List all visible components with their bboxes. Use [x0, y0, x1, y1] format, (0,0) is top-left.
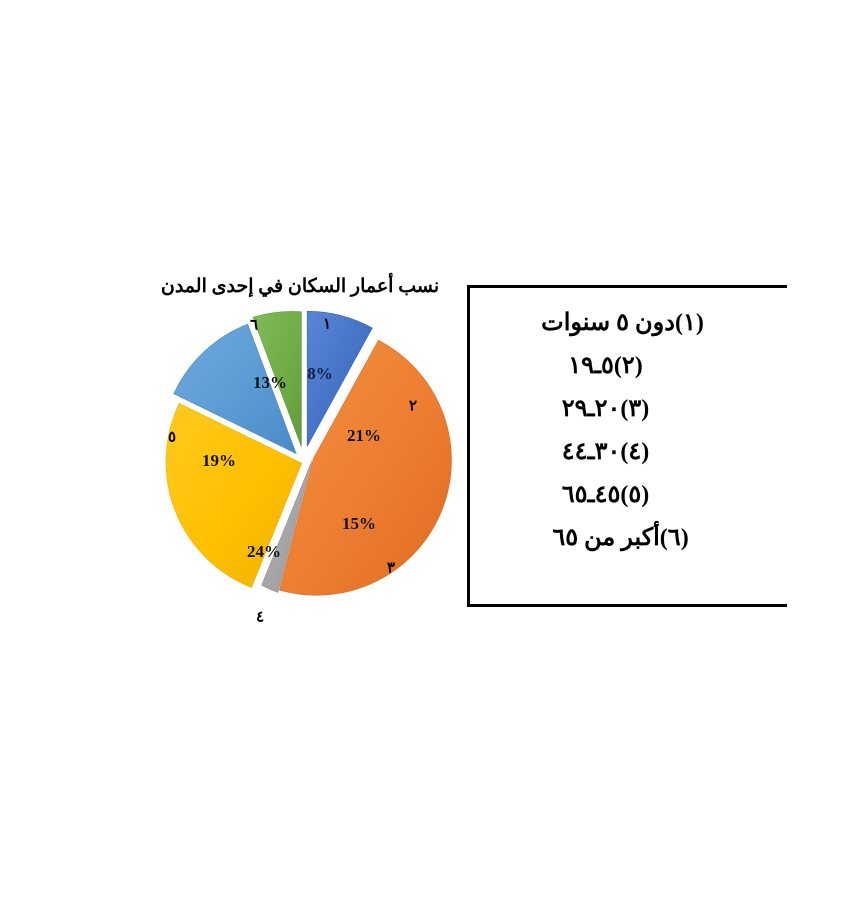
legend-item-3: (٣)٢٠ـ٢٩ — [480, 388, 765, 431]
legend-item-6: (٦)أكبر من ٦٥ — [480, 517, 765, 560]
pie-chart-figure: نسب أعمار السكان في إحدى المدن — [0, 0, 850, 900]
pie-slices-svg — [150, 300, 460, 630]
legend-item-4: (٤)٣٠ـ٤٤ — [480, 431, 765, 474]
slice-category-label-4: ٤ — [256, 608, 264, 627]
slice-category-label-6: ٦ — [250, 316, 258, 335]
legend-item-1: (١)دون ٥ سنوات — [480, 302, 765, 345]
slice-category-label-2: ٢ — [409, 397, 417, 416]
chart-title: نسب أعمار السكان في إحدى المدن — [140, 275, 460, 299]
legend-item-5: (٥)٤٥ـ٦٥ — [480, 474, 765, 517]
pie-chart: 8% 21% 15% 24% 19% 13% ١ ٢ ٣ ٤ ٥ ٦ — [150, 300, 460, 630]
slice-category-label-3: ٣ — [387, 559, 395, 578]
slice-category-label-1: ١ — [323, 315, 331, 334]
legend-item-2: (٢)٥ـ١٩ — [480, 345, 765, 388]
slice-category-label-5: ٥ — [168, 428, 176, 447]
legend-box: (١)دون ٥ سنوات (٢)٥ـ١٩ (٣)٢٠ـ٢٩ (٤)٣٠ـ٤٤… — [467, 285, 787, 607]
pie-slice-2[interactable] — [280, 340, 452, 595]
